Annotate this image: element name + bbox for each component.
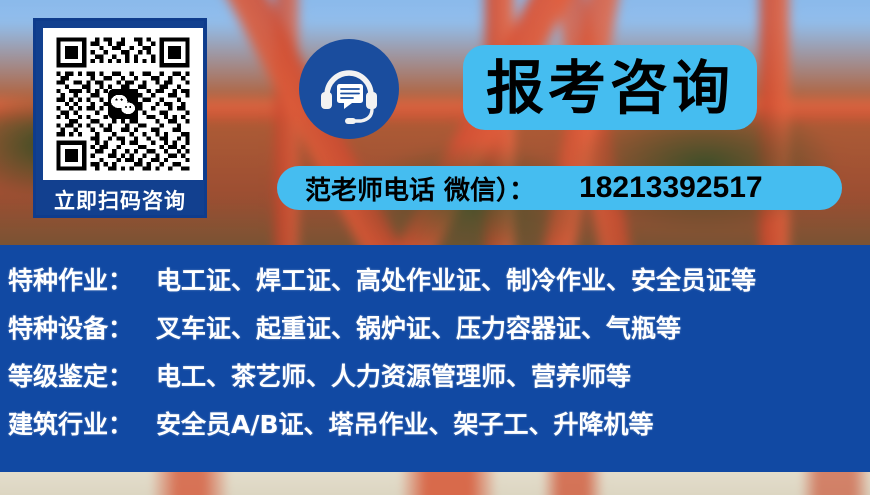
category-label: 特种作业： — [8, 261, 156, 297]
contact-label: 范老师电话 微信）： — [305, 170, 535, 207]
category-label: 建筑行业： — [8, 405, 156, 441]
category-value: 叉车证、起重证、锅炉证、压力容器证、气瓶等 — [156, 309, 681, 345]
qr-card[interactable]: 立即扫码咨询 — [33, 18, 207, 218]
category-list-panel: 特种作业： 电工证、焊工证、高处作业证、制冷作业、安全员证等 特种设备： 叉车证… — [0, 245, 870, 472]
qr-code-icon — [48, 33, 198, 175]
list-item: 特种作业： 电工证、焊工证、高处作业证、制冷作业、安全员证等 — [0, 261, 870, 309]
contact-pill[interactable]: 范老师电话 微信）： 18213392517 — [277, 166, 842, 210]
category-value: 电工、茶艺师、人力资源管理师、营养师等 — [156, 357, 631, 393]
title-pill: 报考咨询 — [463, 45, 757, 130]
promo-poster: 立即扫码咨询 报考咨询 范老师电话 微信）： 1821339 — [0, 0, 870, 495]
qr-frame — [43, 28, 203, 180]
category-value: 安全员A/B证、塔吊作业、架子工、升降机等 — [156, 405, 654, 441]
headset-icon-circle — [299, 39, 399, 139]
headset-with-chat-bubble-icon — [299, 39, 399, 139]
category-label: 等级鉴定： — [8, 357, 156, 393]
list-item: 特种设备： 叉车证、起重证、锅炉证、压力容器证、气瓶等 — [0, 309, 870, 357]
category-label: 特种设备： — [8, 309, 156, 345]
list-item: 建筑行业： 安全员A/B证、塔吊作业、架子工、升降机等 — [0, 405, 870, 453]
bottom-photo-strip — [0, 472, 870, 495]
contact-phone-number[interactable]: 18213392517 — [579, 171, 763, 205]
page-title: 报考咨询 — [486, 59, 734, 117]
category-value: 电工证、焊工证、高处作业证、制冷作业、安全员证等 — [156, 261, 756, 297]
qr-caption: 立即扫码咨询 — [43, 180, 197, 220]
list-item: 等级鉴定： 电工、茶艺师、人力资源管理师、营养师等 — [0, 357, 870, 405]
